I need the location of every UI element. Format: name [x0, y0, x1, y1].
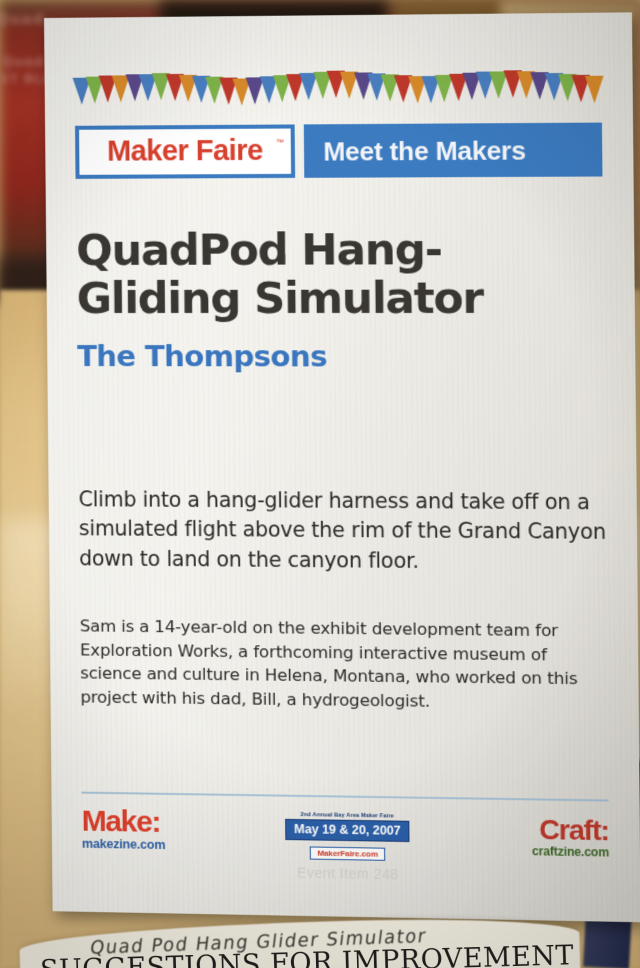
event-item-ghost-text: Event Item 248 [285, 864, 410, 882]
maker-faire-logo-box: Maker Faire ™ [75, 124, 295, 178]
craft-wordmark: Craft: [532, 815, 609, 845]
event-badge-date: May 19 & 20, 2007 [285, 819, 410, 842]
bunting-flags [75, 72, 602, 110]
bio-paragraph: Sam is a 14-year-old on the exhibit deve… [80, 614, 608, 716]
meet-the-makers-label: Meet the Makers [323, 137, 526, 164]
blurred-wall-text-2: Quad [2, 55, 44, 70]
maker-faire-brand-label: Maker Faire [107, 137, 263, 167]
make-url: makezine.com [82, 837, 165, 851]
footer-divider [81, 792, 608, 801]
bunting-flag [585, 75, 604, 103]
meet-the-makers-bar: Meet the Makers [304, 123, 603, 178]
craft-url: craftzine.com [532, 845, 609, 858]
make-magazine-logo: Make: makezine.com [82, 806, 166, 851]
bunting-decoration [74, 61, 601, 111]
event-badge-subtitle: 2nd Annual Bay Area Maker Faire [285, 811, 410, 819]
maker-faire-header: Maker Faire ™ Meet the Makers [75, 123, 602, 179]
page-title: QuadPod Hang-Gliding Simulator [76, 225, 604, 323]
exhibit-sign-card: Maker Faire ™ Meet the Makers QuadPod Ha… [44, 12, 640, 922]
maker-name-subtitle: The Thompsons [77, 339, 604, 374]
body-block: Climb into a hang-glider harness and tak… [78, 486, 607, 717]
make-wordmark: Make: [82, 806, 166, 837]
event-badge: 2nd Annual Bay Area Maker Faire May 19 &… [285, 811, 410, 882]
card-footer: Make: makezine.com 2nd Annual Bay Area M… [81, 792, 609, 886]
description-paragraph: Climb into a hang-glider harness and tak… [78, 486, 606, 578]
blurred-wall-text-1: Quad [0, 10, 44, 28]
header-gap [295, 124, 305, 177]
trademark-icon: ™ [276, 138, 284, 147]
event-badge-url: MakerFaire.com [310, 846, 385, 860]
craft-magazine-logo: Craft: craftzine.com [532, 815, 610, 858]
title-block: QuadPod Hang-Gliding Simulator The Thomp… [76, 225, 604, 374]
